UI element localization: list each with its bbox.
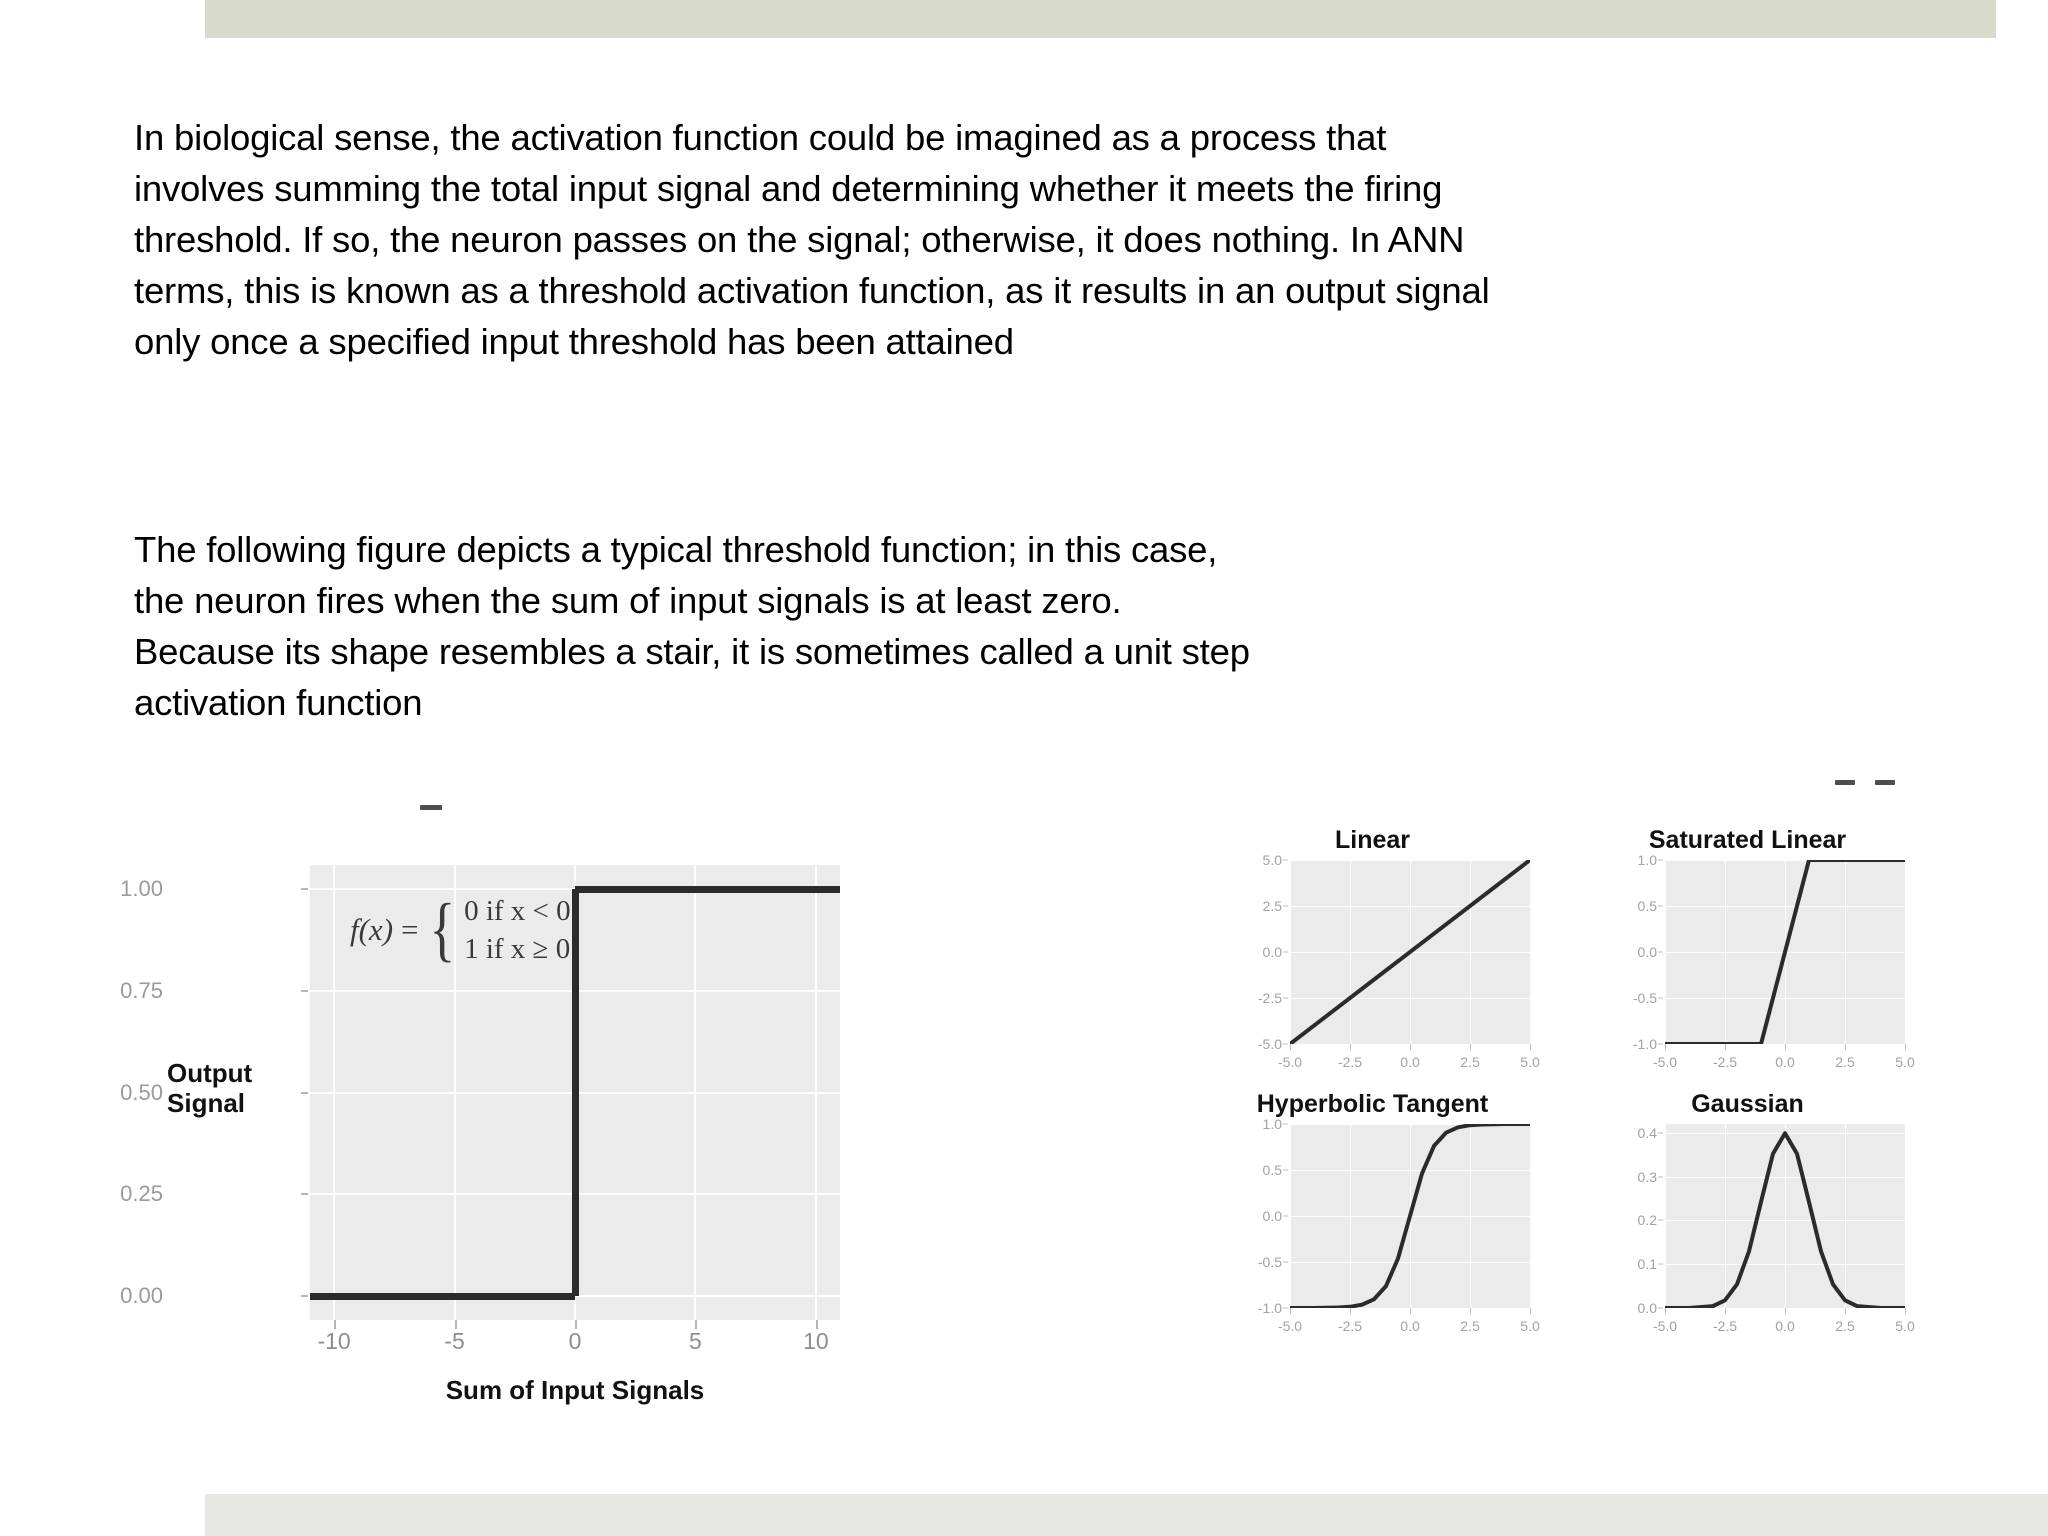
x-axis-tick-mark — [816, 1320, 818, 1329]
marker-dash-icon — [1835, 780, 1855, 785]
x-axis-tick-mark — [1845, 1308, 1846, 1314]
paragraph-line: threshold. If so, the neuron passes on t… — [134, 214, 1534, 265]
x-axis-tick-mark — [1350, 1044, 1351, 1050]
x-axis-tick-label: 0 — [569, 1328, 582, 1355]
x-axis-tick-mark — [334, 1320, 336, 1329]
x-axis-tick-label: 5.0 — [1895, 1318, 1914, 1334]
linear-chart: Linear -5.0-2.50.02.55.05.02.50.0-2.5-5.… — [1205, 826, 1540, 1096]
x-axis-tick-mark — [1725, 1308, 1726, 1314]
y-axis-tick-mark — [1283, 1044, 1288, 1045]
formula-brace-icon: { — [429, 904, 455, 956]
y-axis-tick-mark — [1283, 906, 1288, 907]
y-axis-tick-mark — [1658, 1308, 1663, 1309]
x-axis-tick-label: -5.0 — [1653, 1054, 1677, 1070]
y-axis-tick-mark — [1283, 860, 1288, 861]
y-axis-label-line2: Signal — [167, 1088, 287, 1118]
x-axis-tick-label: 5.0 — [1895, 1054, 1914, 1070]
figure-area: Output Signal -10-505100.000.250.500.751… — [0, 760, 2048, 1380]
paragraph-threshold-function: The following figure depicts a typical t… — [134, 524, 1434, 728]
y-axis-tick-label: 1.0 — [1638, 852, 1657, 868]
saturated-linear-chart: Saturated Linear -5.0-2.50.02.55.01.00.5… — [1580, 826, 1915, 1096]
gridline-vertical — [1530, 860, 1531, 1044]
x-axis-tick-label: 2.5 — [1835, 1054, 1854, 1070]
x-axis-tick-mark — [1845, 1044, 1846, 1050]
paragraph-line: involves summing the total input signal … — [134, 163, 1534, 214]
y-axis-tick-label: 0.1 — [1638, 1256, 1657, 1272]
x-axis-tick-label: 0.0 — [1775, 1318, 1794, 1334]
top-decorative-bar — [205, 0, 1996, 38]
gridline-vertical — [1905, 860, 1906, 1044]
y-axis-tick-label: -5.0 — [1258, 1036, 1282, 1052]
y-axis-tick-mark — [1283, 952, 1288, 953]
y-axis-label: Output Signal — [167, 1058, 287, 1118]
x-axis-tick-label: -5.0 — [1653, 1318, 1677, 1334]
x-axis-tick-mark — [455, 1320, 457, 1329]
gridline-vertical — [1530, 1124, 1531, 1308]
x-axis-tick-label: 2.5 — [1460, 1318, 1479, 1334]
y-axis-tick-mark — [1283, 1124, 1288, 1125]
paragraph-biological-sense: In biological sense, the activation func… — [134, 112, 1534, 367]
y-axis-tick-label: 0.4 — [1638, 1125, 1657, 1141]
formula-fx: f(x) — [350, 912, 393, 948]
y-axis-tick-mark — [1658, 906, 1663, 907]
paragraph-line: only once a specified input threshold ha… — [134, 316, 1534, 367]
y-axis-tick-mark — [1283, 998, 1288, 999]
y-axis-tick-mark — [1658, 860, 1663, 861]
series-path — [1290, 860, 1530, 1044]
x-axis-tick-mark — [695, 1320, 697, 1329]
x-axis-tick-label: 10 — [803, 1328, 829, 1355]
y-axis-tick-mark — [1658, 1264, 1663, 1265]
x-axis-tick-mark — [1470, 1044, 1471, 1050]
y-axis-tick-label: 0.5 — [1263, 1162, 1282, 1178]
gaussian-chart: Gaussian -5.0-2.50.02.55.00.40.30.20.10.… — [1580, 1090, 1915, 1360]
x-axis-tick-mark — [1290, 1044, 1291, 1050]
x-axis-tick-label: 0.0 — [1400, 1054, 1419, 1070]
x-axis-tick-mark — [1905, 1308, 1906, 1314]
paragraph-line: The following figure depicts a typical t… — [134, 524, 1434, 575]
x-axis-tick-label: -5.0 — [1278, 1054, 1302, 1070]
x-axis-tick-label: -2.5 — [1338, 1318, 1362, 1334]
chart-title: Linear — [1205, 826, 1540, 855]
x-axis-tick-label: 2.5 — [1460, 1054, 1479, 1070]
y-axis-tick-label: 0.0 — [1263, 944, 1282, 960]
step-segment-low — [310, 1293, 575, 1300]
formula-case-2: 1 if x ≥ 0 — [464, 930, 571, 968]
y-axis-tick-mark — [1658, 1176, 1663, 1177]
hyperbolic-tangent-chart: Hyperbolic Tangent -5.0-2.50.02.55.01.00… — [1205, 1090, 1540, 1360]
step-segment-riser — [572, 889, 579, 1295]
x-axis-tick-mark — [1725, 1044, 1726, 1050]
paragraph-line: Because its shape resembles a stair, it … — [134, 626, 1434, 677]
paragraph-line: In biological sense, the activation func… — [134, 112, 1534, 163]
series-path — [1290, 1124, 1530, 1308]
chart-title: Hyperbolic Tangent — [1205, 1090, 1540, 1119]
y-axis-tick-label: -2.5 — [1258, 990, 1282, 1006]
y-axis-tick-label: 0.0 — [1638, 1300, 1657, 1316]
y-axis-tick-label: -0.5 — [1258, 1254, 1282, 1270]
y-axis-tick-label: 0.50 — [120, 1080, 163, 1106]
x-axis-tick-label: -10 — [317, 1328, 350, 1355]
y-axis-tick-mark — [1283, 1170, 1288, 1171]
x-axis-tick-mark — [1905, 1044, 1906, 1050]
chart-title: Saturated Linear — [1580, 826, 1915, 855]
paragraph-line: activation function — [134, 677, 1434, 728]
x-axis-tick-mark — [1470, 1308, 1471, 1314]
series-path — [1665, 1124, 1905, 1308]
x-axis-tick-label: 0.0 — [1400, 1318, 1419, 1334]
y-axis-tick-mark — [1283, 1262, 1288, 1263]
y-axis-tick-mark — [1658, 1220, 1663, 1221]
x-axis-label: Sum of Input Signals — [310, 1375, 840, 1406]
x-axis-tick-label: 0.0 — [1775, 1054, 1794, 1070]
x-axis-tick-mark — [1410, 1308, 1411, 1314]
y-axis-tick-label: 2.5 — [1263, 898, 1282, 914]
y-axis-tick-label: -0.5 — [1633, 990, 1657, 1006]
y-axis-tick-mark — [301, 888, 308, 890]
y-axis-tick-mark — [1658, 1044, 1663, 1045]
y-axis-tick-mark — [1658, 998, 1663, 999]
y-axis-tick-label: 0.00 — [120, 1283, 163, 1309]
y-axis-tick-label: 0.75 — [120, 978, 163, 1004]
figure-marker-dash-icon — [420, 805, 442, 810]
x-axis-tick-label: 2.5 — [1835, 1318, 1854, 1334]
y-axis-label-line1: Output — [167, 1058, 287, 1088]
x-axis-tick-mark — [1350, 1308, 1351, 1314]
y-axis-tick-label: 1.00 — [120, 876, 163, 902]
y-axis-tick-label: 0.0 — [1263, 1208, 1282, 1224]
y-axis-tick-label: 0.2 — [1638, 1212, 1657, 1228]
y-axis-tick-label: 0.5 — [1638, 898, 1657, 914]
y-axis-tick-label: 5.0 — [1263, 852, 1282, 868]
y-axis-tick-label: -1.0 — [1633, 1036, 1657, 1052]
x-axis-tick-label: 5 — [689, 1328, 702, 1355]
marker-dash-icon — [1875, 780, 1895, 785]
paragraph-line: the neuron fires when the sum of input s… — [134, 575, 1434, 626]
y-axis-tick-label: 0.0 — [1638, 944, 1657, 960]
series-path — [1665, 860, 1905, 1044]
y-axis-tick-mark — [301, 1193, 308, 1195]
y-axis-tick-mark — [1658, 1132, 1663, 1133]
x-axis-tick-mark — [1665, 1044, 1666, 1050]
step-segment-high — [575, 886, 840, 893]
x-axis-tick-mark — [1530, 1044, 1531, 1050]
y-axis-tick-label: -1.0 — [1258, 1300, 1282, 1316]
x-axis-tick-label: 5.0 — [1520, 1318, 1539, 1334]
x-axis-tick-label: 5.0 — [1520, 1054, 1539, 1070]
formula-equals: = — [401, 912, 418, 948]
x-axis-tick-label: -5 — [444, 1328, 464, 1355]
y-axis-tick-label: 0.25 — [120, 1181, 163, 1207]
x-axis-tick-mark — [1785, 1044, 1786, 1050]
x-axis-tick-mark — [1530, 1308, 1531, 1314]
x-axis-tick-mark — [1290, 1308, 1291, 1314]
y-axis-tick-label: 1.0 — [1263, 1116, 1282, 1132]
x-axis-tick-label: -5.0 — [1278, 1318, 1302, 1334]
x-axis-tick-mark — [1410, 1044, 1411, 1050]
y-axis-tick-mark — [301, 990, 308, 992]
gridline-vertical — [1905, 1124, 1906, 1308]
x-axis-tick-mark — [1785, 1308, 1786, 1314]
piecewise-formula-annotation: f(x) = { 0 if x < 0 1 if x ≥ 0 — [350, 892, 571, 969]
formula-case-1: 0 if x < 0 — [464, 892, 571, 930]
y-axis-tick-mark — [301, 1092, 308, 1094]
x-axis-tick-label: -2.5 — [1338, 1054, 1362, 1070]
x-axis-tick-label: -2.5 — [1713, 1318, 1737, 1334]
y-axis-tick-mark — [1658, 952, 1663, 953]
activation-functions-grid: Linear -5.0-2.50.02.55.05.02.50.0-2.5-5.… — [1195, 770, 1985, 1370]
unit-step-chart: Output Signal -10-505100.000.250.500.751… — [155, 780, 855, 1380]
x-axis-tick-mark — [1665, 1308, 1666, 1314]
bottom-decorative-bar — [205, 1494, 2048, 1536]
paragraph-line: terms, this is known as a threshold acti… — [134, 265, 1534, 316]
x-axis-tick-mark — [575, 1320, 577, 1329]
figure-marker-dashes — [1835, 780, 1955, 788]
y-axis-tick-mark — [1283, 1216, 1288, 1217]
y-axis-tick-mark — [301, 1295, 308, 1297]
y-axis-tick-mark — [1283, 1308, 1288, 1309]
chart-title: Gaussian — [1580, 1090, 1915, 1119]
y-axis-tick-label: 0.3 — [1638, 1169, 1657, 1185]
x-axis-tick-label: -2.5 — [1713, 1054, 1737, 1070]
